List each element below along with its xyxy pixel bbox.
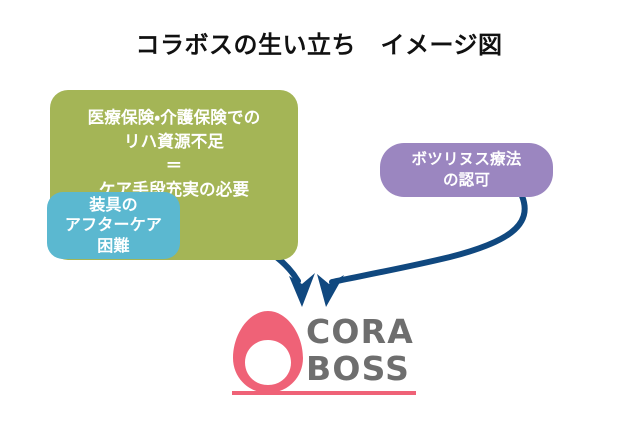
diagram-canvas: コラボスの生い立ち イメージ図 医療保険・介護保険での リハ資源不足 ＝ ケア手…: [0, 0, 638, 440]
logo-word-boss: BOSS: [306, 351, 418, 388]
coraboss-logo: CORA BOSS: [232, 310, 418, 398]
logo-underline: [232, 391, 416, 395]
logo-word-cora: CORA: [306, 314, 418, 351]
logo-wordmark: CORA BOSS: [306, 312, 418, 390]
node-purple-botulinum: ボツリヌス療法 の認可: [380, 143, 553, 197]
page-title: コラボスの生い立ち イメージ図: [0, 31, 638, 60]
egg-ring-logo-icon: [232, 310, 304, 394]
node-blue-aftercare: 装具の アフターケア 困難: [47, 192, 180, 259]
arrow-from-purple-to-logo: [317, 196, 525, 307]
